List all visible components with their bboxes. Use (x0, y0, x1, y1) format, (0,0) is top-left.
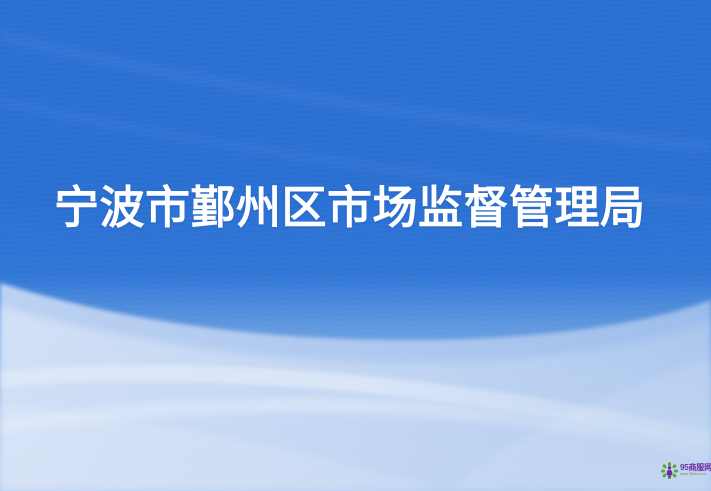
watermark-site-name: 95商服网 (680, 464, 711, 472)
background-striation-texture (0, 0, 711, 491)
agency-banner: 宁波市鄞州区市场监督管理局 95商服网 www.95ms.com (0, 0, 711, 491)
watermark-text-group: 95商服网 www.95ms.com (680, 464, 711, 477)
watermark-site-url: www.95ms.com (680, 473, 711, 477)
background-wave-graphic (0, 0, 711, 491)
page-title: 宁波市鄞州区市场监督管理局 (54, 181, 646, 235)
site-watermark: 95商服网 www.95ms.com (661, 458, 709, 482)
leaf-circle-person-logo-icon (661, 462, 678, 479)
